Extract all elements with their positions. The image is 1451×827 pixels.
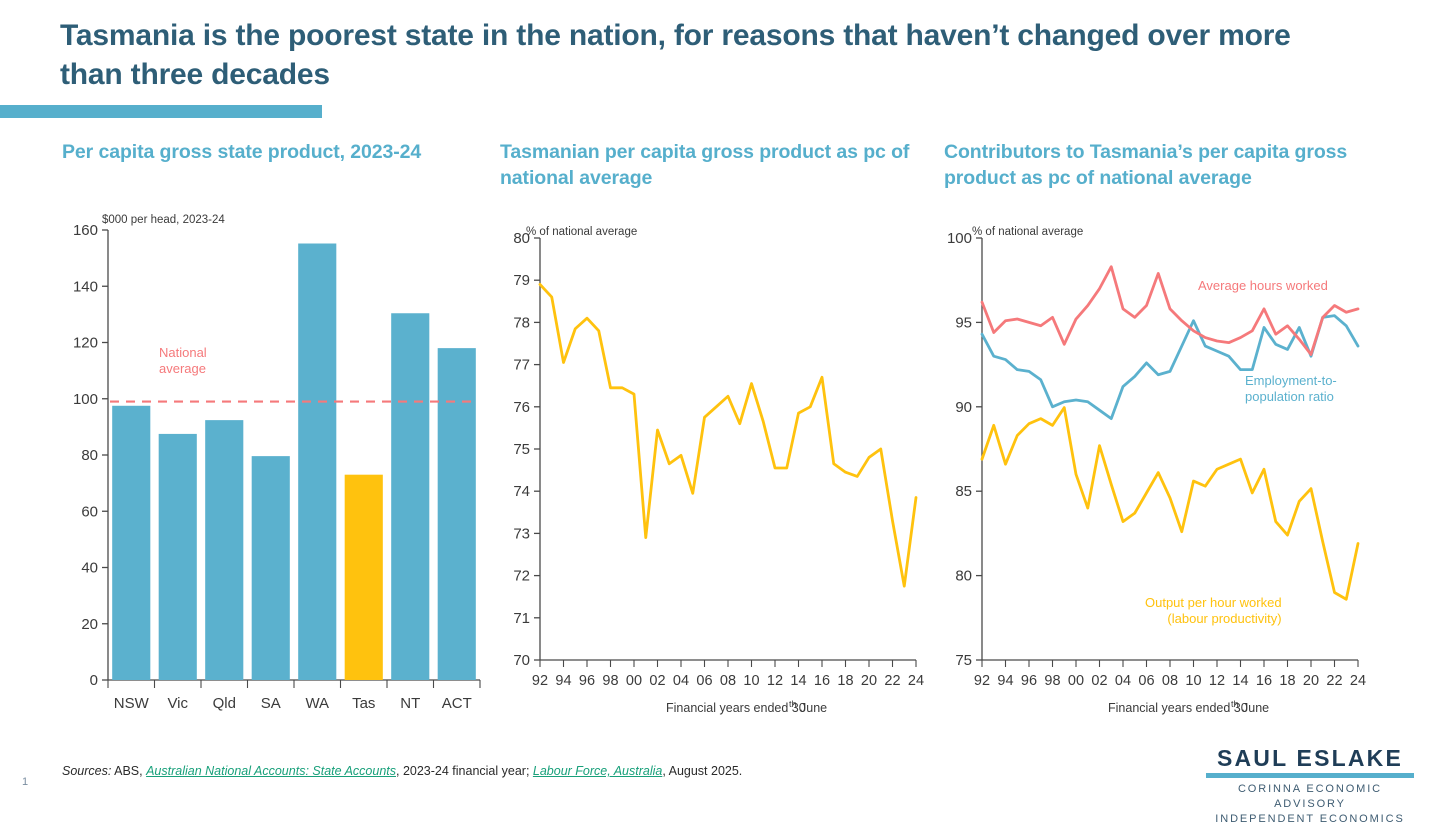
y-tick-label: 75 xyxy=(513,441,530,458)
x-tick-label: 08 xyxy=(720,673,736,689)
x-tick-label: 14 xyxy=(1232,673,1248,689)
x-tick-label: 22 xyxy=(1326,673,1342,689)
bar-chart-subtitle: $000 per head, 2023-24 xyxy=(102,214,225,226)
x-tick-label: 14 xyxy=(790,673,806,689)
x-tick-label: 92 xyxy=(974,673,990,689)
y-tick-label: 75 xyxy=(955,652,972,669)
national-average-line2: average xyxy=(159,361,207,377)
y-tick-label: 160 xyxy=(73,222,98,239)
y-tick-label: 73 xyxy=(513,525,530,542)
y-tick-label: 40 xyxy=(81,560,98,577)
sources-prefix: Sources: xyxy=(62,764,111,778)
annotation-output-per-hour-worked: Output per hour worked (labour productiv… xyxy=(1145,595,1282,628)
brand-logo: SAUL ESLAKE CORINNA ECONOMIC ADVISORY IN… xyxy=(1206,746,1414,827)
x-axis-label: Financial years ended 30 xyxy=(1108,701,1248,715)
logo-subtitle-2: INDEPENDENT ECONOMICS xyxy=(1206,812,1414,827)
annotation-average-hours-worked: Average hours worked xyxy=(1198,278,1328,294)
x-axis-label-superscript: th xyxy=(1231,699,1239,709)
annotation-employment-population-ratio: Employment-to- population ratio xyxy=(1245,373,1337,406)
x-tick-label: 94 xyxy=(997,673,1013,689)
y-tick-label: 80 xyxy=(955,568,972,585)
bar-wa xyxy=(298,244,336,681)
contributors-line-chart: % of national average 758085909510092949… xyxy=(940,228,1415,728)
logo-name: SAUL ESLAKE xyxy=(1206,746,1414,770)
epop-line2: population ratio xyxy=(1245,389,1337,405)
x-tick-label: 22 xyxy=(884,673,900,689)
y-tick-label: 70 xyxy=(513,652,530,669)
x-tick-label: 00 xyxy=(1068,673,1084,689)
y-tick-label: 85 xyxy=(955,483,972,500)
x-tick-label: NT xyxy=(400,695,420,712)
x-tick-label: 10 xyxy=(743,673,759,689)
x-tick-label: NSW xyxy=(114,695,150,712)
y-tick-label: 95 xyxy=(955,314,972,331)
panel-title-bar-chart: Per capita gross state product, 2023-24 xyxy=(62,140,482,166)
x-axis-label-tail: June xyxy=(1242,701,1269,715)
x-tick-label: 06 xyxy=(1138,673,1154,689)
sources-link-state-accounts[interactable]: Australian National Accounts: State Acco… xyxy=(146,764,396,778)
y-tick-label: 100 xyxy=(73,391,98,408)
line-chart-subtitle: % of national average xyxy=(526,226,637,238)
sources-note: Sources: ABS, Australian National Accoun… xyxy=(62,764,742,778)
bar-nsw xyxy=(112,406,150,680)
y-tick-label: 140 xyxy=(73,278,98,295)
x-tick-label: 96 xyxy=(1021,673,1037,689)
x-tick-label: 10 xyxy=(1185,673,1201,689)
page-number: 1 xyxy=(22,776,28,788)
x-tick-label: 18 xyxy=(1279,673,1295,689)
bar-sa xyxy=(252,456,290,680)
title-accent-bar xyxy=(0,105,322,118)
x-tick-label: 96 xyxy=(579,673,595,689)
y-tick-label: 0 xyxy=(90,672,98,689)
sources-text-2: , 2023-24 financial year; xyxy=(396,764,533,778)
prod-line1: Output per hour worked xyxy=(1145,595,1282,611)
bar-act xyxy=(438,348,476,680)
sources-text-1: ABS, xyxy=(111,764,146,778)
panel-title-contributors-chart: Contributors to Tasmania’s per capita gr… xyxy=(944,140,1419,192)
x-tick-label: 16 xyxy=(1256,673,1272,689)
x-tick-label: 18 xyxy=(837,673,853,689)
x-tick-label: SA xyxy=(261,695,281,712)
x-tick-label: 24 xyxy=(908,673,924,689)
panel-title-line-chart: Tasmanian per capita gross product as pc… xyxy=(500,140,930,192)
bar-chart: $000 per head, 2023-24 02040608010012014… xyxy=(62,218,482,718)
x-tick-label: 04 xyxy=(673,673,689,689)
prod-line2: (labour productivity) xyxy=(1145,611,1282,627)
y-tick-label: 80 xyxy=(81,447,98,464)
bar-qld xyxy=(205,420,243,680)
line-chart-canvas: 7071727374757677787980929496980002040608… xyxy=(498,228,930,728)
x-tick-label: 08 xyxy=(1162,673,1178,689)
x-tick-label: 04 xyxy=(1115,673,1131,689)
y-tick-label: 76 xyxy=(513,399,530,416)
x-tick-label: 12 xyxy=(767,673,783,689)
x-tick-label: 94 xyxy=(555,673,571,689)
x-tick-label: 98 xyxy=(602,673,618,689)
epop-line1: Employment-to- xyxy=(1245,373,1337,389)
y-tick-label: 77 xyxy=(513,357,530,374)
x-tick-label: 02 xyxy=(1091,673,1107,689)
y-tick-label: 60 xyxy=(81,503,98,520)
bar-chart-canvas: 020406080100120140160NSWVicQldSAWATasNTA… xyxy=(62,218,482,718)
bar-nt xyxy=(391,313,429,680)
x-tick-label: 12 xyxy=(1209,673,1225,689)
y-tick-label: 74 xyxy=(513,483,530,500)
y-tick-label: 71 xyxy=(513,610,530,627)
x-tick-label: 02 xyxy=(649,673,665,689)
sources-link-labour-force[interactable]: Labour Force, Australia xyxy=(533,764,662,778)
x-tick-label: 00 xyxy=(626,673,642,689)
y-tick-label: 72 xyxy=(513,568,530,585)
y-tick-label: 78 xyxy=(513,314,530,331)
tas-gsp-line-chart: % of national average 707172737475767778… xyxy=(498,228,930,728)
y-tick-label: 120 xyxy=(73,335,98,352)
y-tick-label: 90 xyxy=(955,399,972,416)
series-line-output-per-hour xyxy=(982,408,1358,600)
x-tick-label: 20 xyxy=(861,673,877,689)
logo-divider xyxy=(1206,773,1414,778)
y-tick-label: 100 xyxy=(947,230,972,247)
x-tick-label: 06 xyxy=(696,673,712,689)
bar-tas xyxy=(345,475,383,680)
x-axis-label-tail: June xyxy=(800,701,827,715)
national-average-annotation: National average xyxy=(159,345,207,378)
contributors-canvas: 7580859095100929496980002040608101214161… xyxy=(940,228,1415,728)
sources-text-3: , August 2025. xyxy=(662,764,742,778)
contributors-subtitle: % of national average xyxy=(972,226,1083,238)
x-tick-label: 20 xyxy=(1303,673,1319,689)
page-title: Tasmania is the poorest state in the nat… xyxy=(60,16,1350,94)
y-tick-label: 20 xyxy=(81,616,98,633)
y-tick-label: 79 xyxy=(513,272,530,289)
x-tick-label: Tas xyxy=(352,695,375,712)
x-axis-label-superscript: th xyxy=(789,699,797,709)
x-tick-label: 98 xyxy=(1044,673,1060,689)
x-tick-label: Vic xyxy=(167,695,188,712)
x-tick-label: 92 xyxy=(532,673,548,689)
x-tick-label: WA xyxy=(305,695,329,712)
x-tick-label: 24 xyxy=(1350,673,1366,689)
series-line-tas-gsp xyxy=(540,284,916,586)
bar-vic xyxy=(159,434,197,680)
x-tick-label: ACT xyxy=(442,695,472,712)
national-average-line1: National xyxy=(159,345,207,361)
x-axis-label: Financial years ended 30 xyxy=(666,701,806,715)
logo-subtitle-1: CORINNA ECONOMIC ADVISORY xyxy=(1206,782,1414,812)
slide-root: Tasmania is the poorest state in the nat… xyxy=(0,0,1451,816)
x-tick-label: Qld xyxy=(213,695,236,712)
x-tick-label: 16 xyxy=(814,673,830,689)
